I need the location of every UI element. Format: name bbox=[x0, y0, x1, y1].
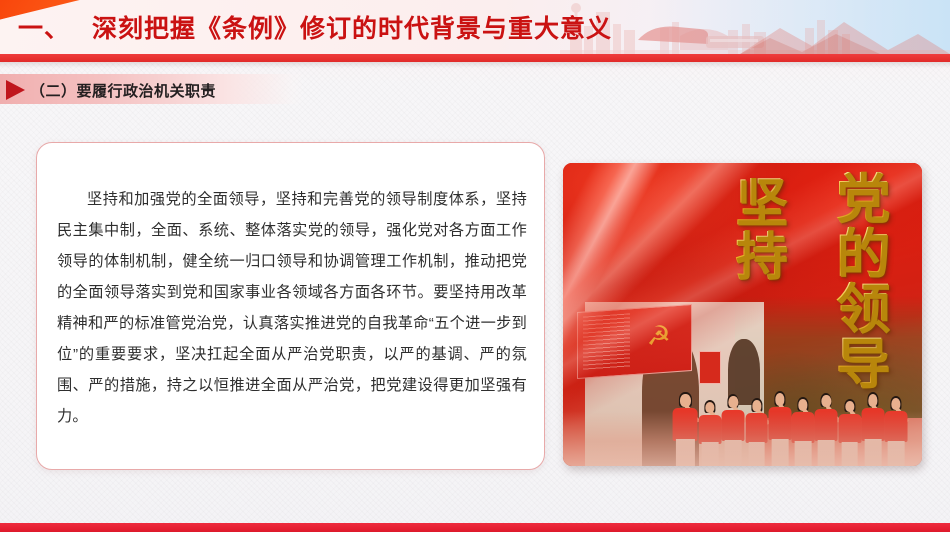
presentation-slide: 一、深刻把握《条例》修订的时代背景与重大意义 （二）要履行政治机关职责 坚持和加… bbox=[0, 0, 950, 535]
page-title-number: 一、 bbox=[18, 15, 70, 43]
subtitle-text: （二）要履行政治机关职责 bbox=[30, 80, 216, 101]
slide-image: ☭ bbox=[563, 163, 922, 466]
page-title: 一、深刻把握《条例》修订的时代背景与重大意义 bbox=[18, 9, 612, 45]
photo-silk-ribbon bbox=[563, 163, 922, 466]
page-title-text: 深刻把握《条例》修订的时代背景与重大意义 bbox=[92, 15, 612, 43]
header-accent-bar-shadow bbox=[0, 62, 950, 68]
content-card: 坚持和加强党的全面领导，坚持和完善党的领导制度体系，坚持民主集中制，全面、系统、… bbox=[36, 142, 545, 470]
mountain-icon bbox=[740, 12, 950, 54]
header-accent-bar bbox=[0, 54, 950, 62]
triangle-right-icon bbox=[6, 80, 25, 100]
body-paragraph: 坚持和加强党的全面领导，坚持和完善党的领导制度体系，坚持民主集中制，全面、系统、… bbox=[57, 184, 527, 432]
footer-accent-bar bbox=[0, 523, 950, 532]
